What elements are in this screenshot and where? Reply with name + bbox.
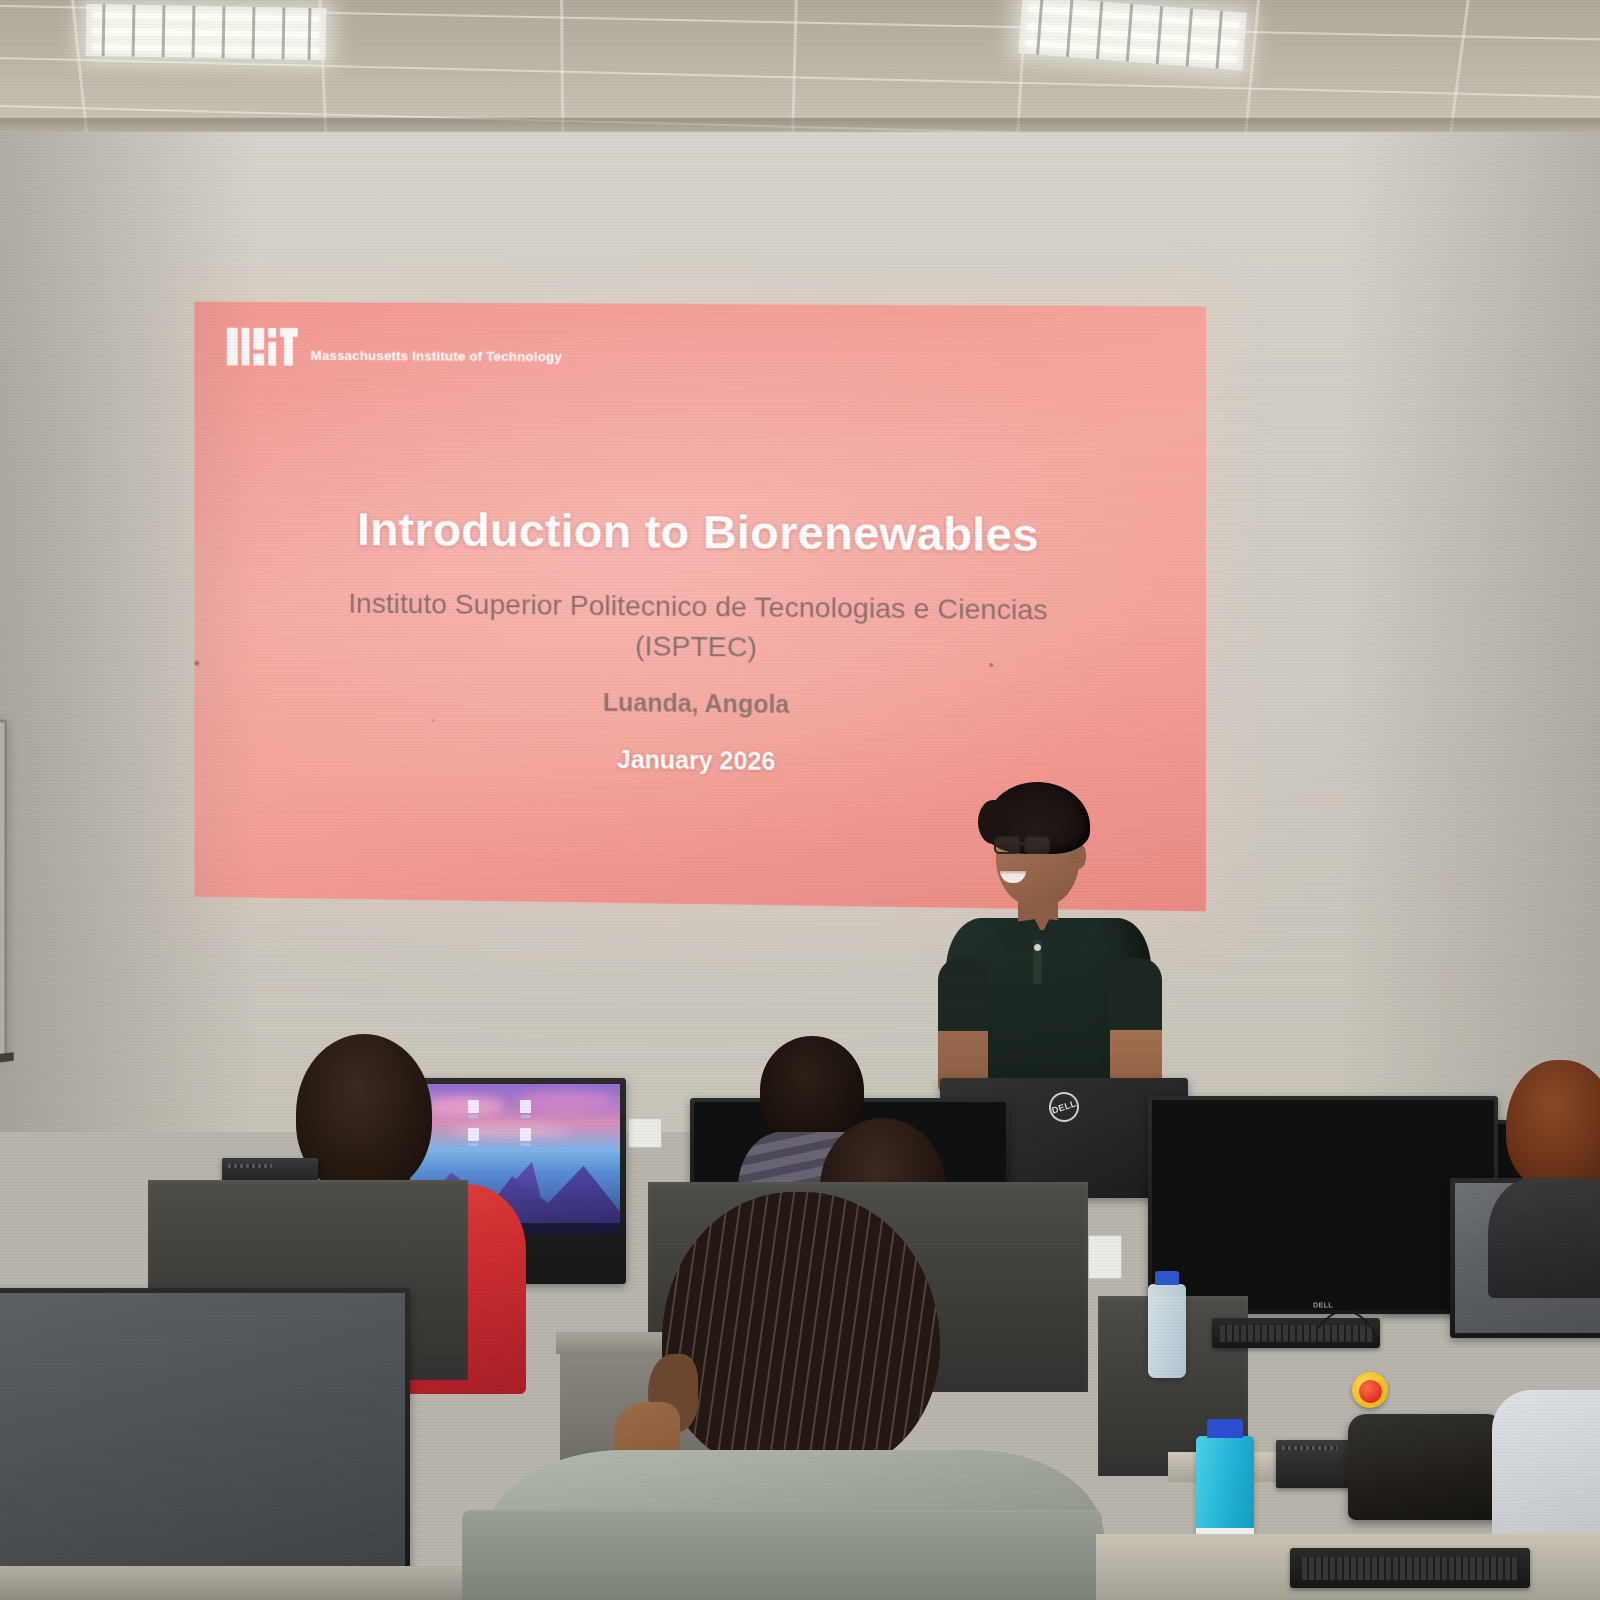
- student-hair-braids: [662, 1192, 940, 1472]
- foreground-monitor-left: [0, 1288, 410, 1600]
- classroom-scene: Massachusetts Institute of Technology In…: [0, 0, 1600, 1600]
- drop-ceiling: [0, 0, 1600, 140]
- slide-location: Luanda, Angola: [220, 685, 1180, 725]
- keyboard-front-right[interactable]: [1290, 1548, 1530, 1588]
- student-hair-curly: [1506, 1060, 1600, 1192]
- presenter-left-arm: [938, 958, 988, 1098]
- power-outlet-wall-right: [1088, 1235, 1122, 1279]
- eyeglasses-right-lens: [1024, 836, 1050, 854]
- slide-institution-line: Instituto Superior Politecnico de Tecnol…: [220, 586, 1180, 629]
- bottle-cap: [1155, 1271, 1179, 1285]
- whiteboard: [0, 712, 7, 1064]
- laptop-bag: [1348, 1414, 1508, 1520]
- desk-partition-front-center: [462, 1510, 1102, 1600]
- mit-institution-name: Massachusetts Institute of Technology: [311, 348, 562, 367]
- student-torso: [1488, 1178, 1600, 1298]
- slide-institution-acronym: (ISPTEC): [220, 625, 1180, 669]
- slide-date: January 2026: [220, 742, 1180, 783]
- eyeglasses-left-lens: [994, 836, 1020, 854]
- mit-logo: [227, 328, 298, 366]
- desk-surface-front-left: [0, 1566, 470, 1600]
- ceiling-light-panel-right: [1018, 0, 1247, 71]
- presenter: [938, 782, 1163, 1102]
- student-monitor-right-front: DELL: [1148, 1096, 1498, 1314]
- mit-logo-lockup: Massachusetts Institute of Technology: [227, 328, 562, 368]
- bottle-cap: [1207, 1419, 1243, 1438]
- presenter-shirt-button: [1034, 944, 1041, 951]
- power-outlet-wall-left: [628, 1118, 662, 1148]
- water-bottle: [1148, 1284, 1186, 1378]
- student-curly-hair: [1488, 1060, 1600, 1290]
- ceiling-light-panel-left: [86, 4, 327, 60]
- eyeglasses-bridge: [1020, 842, 1026, 845]
- slide-title: Introduction to Biorenewables: [220, 500, 1180, 563]
- dell-logo: DELL: [1045, 1088, 1083, 1126]
